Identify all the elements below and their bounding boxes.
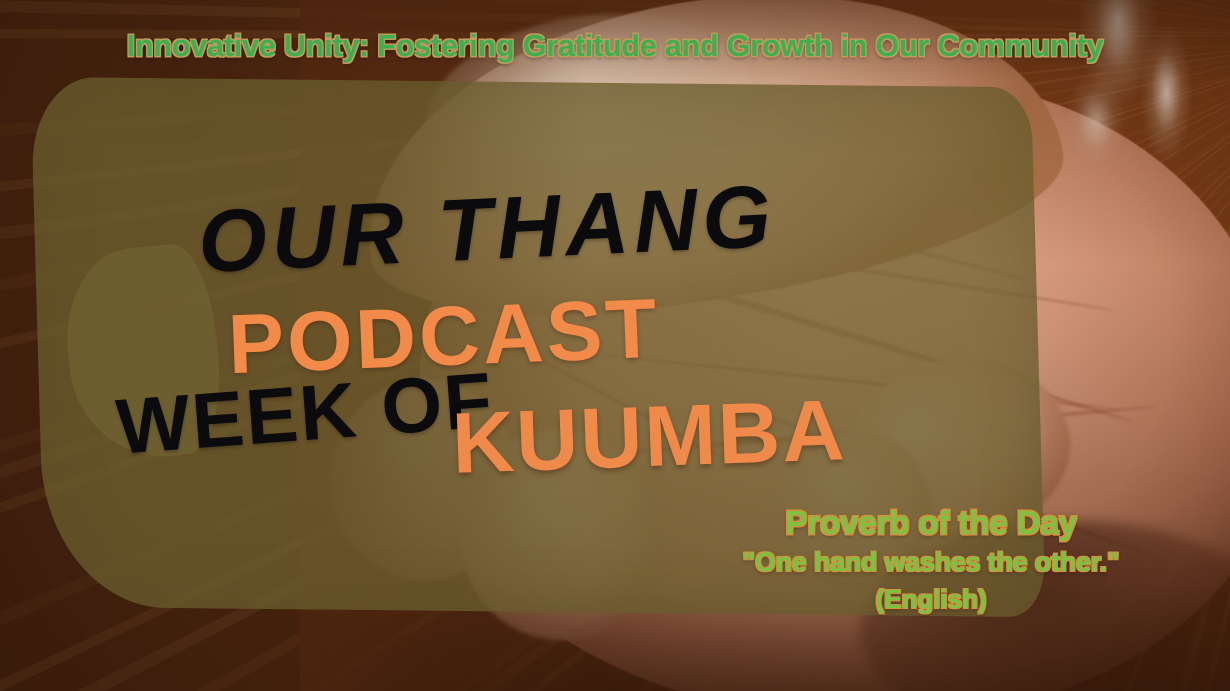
proverb-block: Proverb of the Day "One hand washes the … (716, 504, 1146, 615)
podcast-cover-canvas: Innovative Unity: Fostering Gratitude an… (0, 0, 1230, 691)
logo-line-kuumba: KUUMBA (450, 381, 847, 494)
page-title: Innovative Unity: Fostering Gratitude an… (0, 29, 1230, 64)
proverb-quote: "One hand washes the other." (716, 547, 1146, 579)
proverb-heading: Proverb of the Day (716, 504, 1146, 542)
proverb-language: (English) (716, 584, 1146, 615)
